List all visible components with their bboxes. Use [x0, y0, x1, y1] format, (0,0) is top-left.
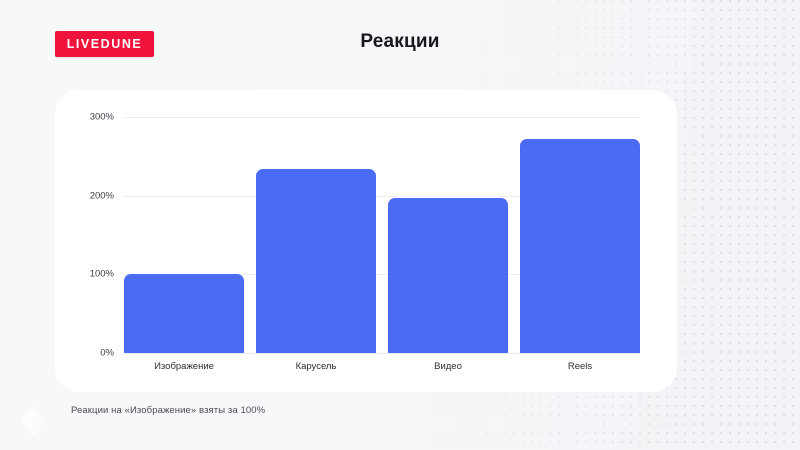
bar-video[interactable]: [388, 198, 508, 353]
bar-reels[interactable]: [520, 139, 640, 353]
gridline-0: 0%: [124, 353, 640, 354]
y-axis-tick-300: 300%: [90, 112, 114, 123]
bar-chart: 300% 200% 100% 0% Изображение Карусель: [55, 90, 677, 392]
y-axis-tick-200: 200%: [90, 190, 114, 201]
slide-canvas: LIVEDUNE Реакции 300% 200% 100% 0% Изобр…: [0, 0, 800, 450]
bar-slot-image: Изображение: [124, 117, 244, 353]
bar-carousel[interactable]: [256, 169, 376, 353]
bar-slot-video: Видео: [388, 117, 508, 353]
diamond-logo-mark-icon: [18, 404, 48, 438]
x-axis-label-reels: Reels: [520, 361, 640, 372]
bar-slot-carousel: Карусель: [256, 117, 376, 353]
chart-footnote: Реакции на «Изображение» взяты за 100%: [71, 405, 265, 416]
y-axis-tick-100: 100%: [90, 269, 114, 280]
y-axis-tick-0: 0%: [100, 348, 114, 359]
bar-slot-reels: Reels: [520, 117, 640, 353]
page-title: Реакции: [0, 31, 800, 53]
plot-area: 300% 200% 100% 0% Изображение Карусель: [124, 117, 640, 353]
x-axis-label-video: Видео: [388, 361, 508, 372]
bar-group: Изображение Карусель Видео Reels: [124, 117, 640, 353]
bar-image[interactable]: [124, 274, 244, 353]
x-axis-label-carousel: Карусель: [256, 361, 376, 372]
x-axis-label-image: Изображение: [124, 361, 244, 372]
